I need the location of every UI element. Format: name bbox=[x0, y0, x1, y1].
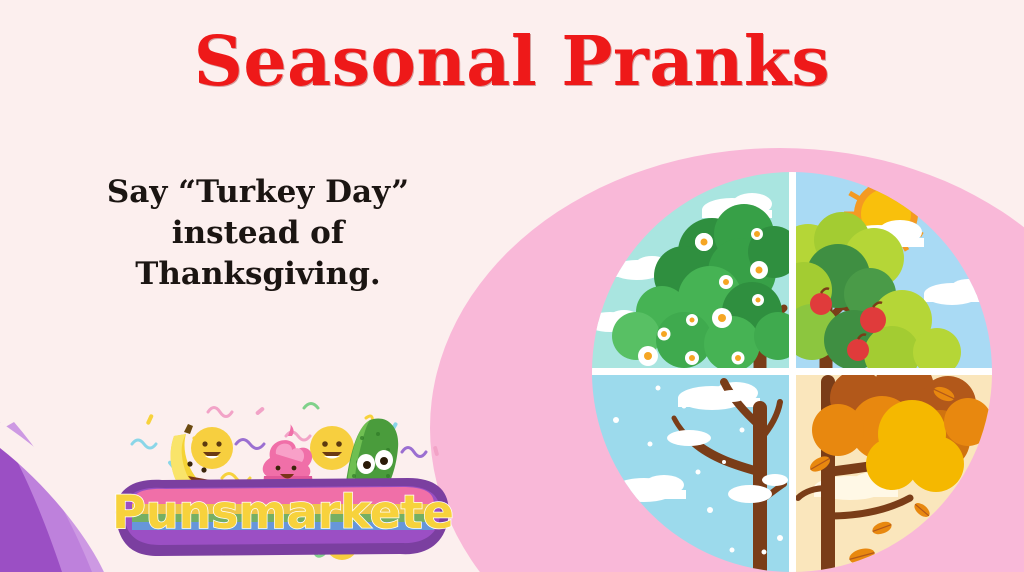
prank-text-line-2: instead of bbox=[58, 213, 458, 254]
prank-text-line-3: Thanksgiving. bbox=[58, 254, 458, 295]
quadrant-winter bbox=[592, 374, 792, 572]
quadrant-autumn bbox=[794, 358, 992, 572]
quadrant-spring bbox=[592, 172, 802, 372]
brand-logo[interactable]: Punsmarkete bbox=[108, 392, 458, 572]
four-seasons-illustration bbox=[592, 172, 992, 572]
logo-wordmark: Punsmarkete bbox=[112, 485, 454, 539]
prank-text-line-1: Say “Turkey Day” bbox=[58, 172, 458, 213]
slide-canvas: Seasonal Pranks Say “Turkey Day” instead… bbox=[0, 0, 1024, 572]
prank-text: Say “Turkey Day” instead of Thanksgiving… bbox=[58, 172, 458, 295]
quadrant-summer bbox=[776, 172, 992, 382]
page-title: Seasonal Pranks bbox=[0, 22, 1024, 102]
